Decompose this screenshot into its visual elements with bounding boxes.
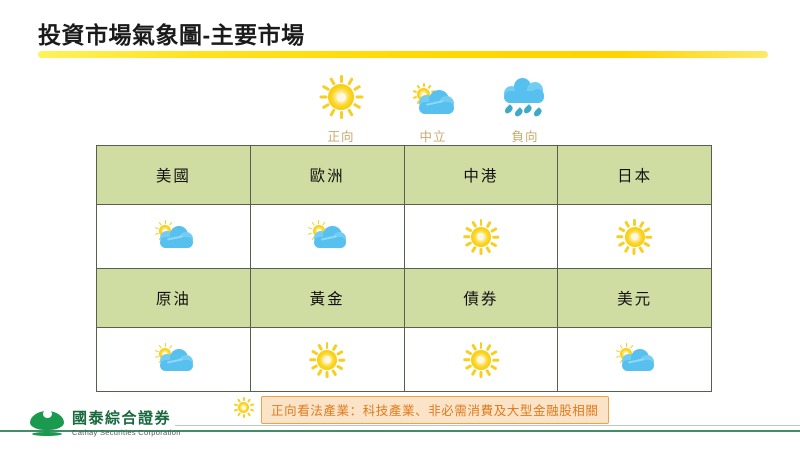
table-row	[97, 328, 712, 392]
legend-item-neutral: 中立	[400, 82, 466, 145]
market-outlook-cell-usd	[558, 328, 712, 392]
market-outlook-cell-japan	[558, 205, 712, 269]
market-outlook-cell-europe	[250, 205, 404, 269]
market-outlook-cell-gold	[250, 328, 404, 392]
partly-cloudy-icon	[251, 205, 404, 268]
market-weather-table: 美國 歐洲 中港 日本 原油 黃金 債券 美元	[96, 145, 712, 392]
market-name-cell: 原油	[97, 269, 251, 328]
partly-cloudy-icon	[97, 205, 250, 268]
sun-icon	[251, 328, 404, 391]
market-name-cell: 美元	[558, 269, 712, 328]
table-row: 美國 歐洲 中港 日本	[97, 146, 712, 205]
market-table-body: 美國 歐洲 中港 日本 原油 黃金 債券 美元	[97, 146, 712, 392]
logo-name-cn: 國泰綜合證券	[72, 411, 181, 427]
market-outlook-cell-us	[97, 205, 251, 269]
market-name-cell: 日本	[558, 146, 712, 205]
table-row: 原油 黃金 債券 美元	[97, 269, 712, 328]
cathay-tree-logo-icon	[30, 409, 64, 439]
sun-icon	[405, 328, 558, 391]
legend-label-neutral: 中立	[419, 126, 446, 145]
legend-item-negative: 負向	[492, 76, 558, 145]
market-name-cell: 美國	[97, 146, 251, 205]
market-outlook-cell-china-hk	[404, 205, 558, 269]
footer-divider	[175, 425, 800, 426]
sun-icon	[232, 396, 255, 424]
market-outlook-cell-oil	[97, 328, 251, 392]
market-name-cell: 黃金	[250, 269, 404, 328]
legend-item-positive: 正向	[308, 74, 374, 145]
company-logo: 國泰綜合證券 Cathay Securities Corporation	[30, 409, 181, 439]
partly-cloudy-icon	[97, 328, 250, 391]
sun-icon	[558, 205, 711, 268]
rain-cloud-icon	[502, 76, 548, 125]
logo-text: 國泰綜合證券 Cathay Securities Corporation	[72, 411, 181, 437]
market-name-cell: 中港	[404, 146, 558, 205]
logo-name-en: Cathay Securities Corporation	[72, 429, 181, 437]
market-name-cell: 債券	[404, 269, 558, 328]
sun-icon	[405, 205, 558, 268]
market-name-cell: 歐洲	[250, 146, 404, 205]
market-outlook-cell-bonds	[404, 328, 558, 392]
partly-cloudy-icon	[558, 328, 711, 391]
page-title: 投資市場氣象圖-主要市場	[38, 16, 305, 50]
footnote: 正向看法產業：科技產業、非必需消費及大型金融股相關	[232, 396, 609, 424]
legend: 正向 中立 負向	[308, 74, 558, 145]
sun-icon	[318, 74, 364, 125]
title-underline-rule	[38, 51, 768, 58]
legend-label-negative: 負向	[511, 126, 538, 145]
legend-label-positive: 正向	[327, 126, 354, 145]
partly-cloudy-icon	[410, 82, 456, 125]
table-row	[97, 205, 712, 269]
footnote-text: 正向看法產業：科技產業、非必需消費及大型金融股相關	[261, 396, 609, 424]
